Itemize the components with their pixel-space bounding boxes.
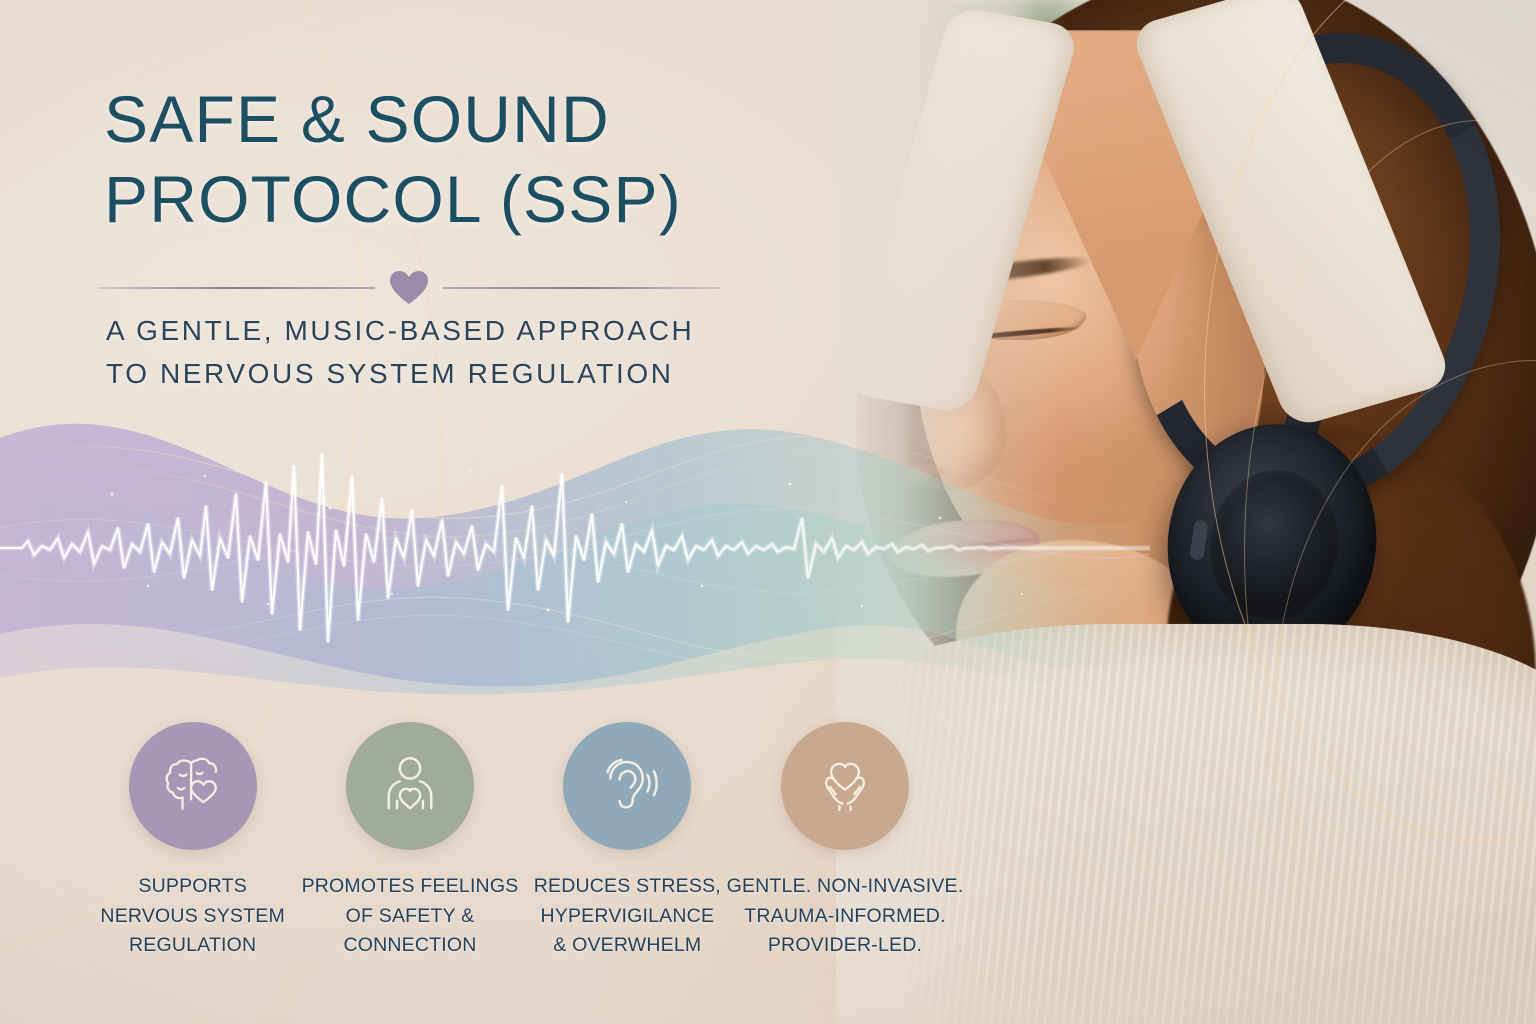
feature-label-line: CONNECTION bbox=[302, 931, 519, 961]
feature-label-line: HYPERVIGILANCE bbox=[534, 902, 721, 932]
feature-item: SUPPORTS NERVOUS SYSTEM REGULATION bbox=[84, 722, 301, 961]
divider-rule-left bbox=[98, 287, 375, 289]
feature-label-line: REGULATION bbox=[100, 931, 284, 961]
divider-rule-right bbox=[443, 287, 720, 289]
feature-list: SUPPORTS NERVOUS SYSTEM REGULATION bbox=[84, 722, 954, 961]
feature-label-line: REDUCES STRESS, bbox=[534, 872, 721, 902]
feature-label-line: PROMOTES FEELINGS bbox=[302, 872, 519, 902]
feature-label: PROMOTES FEELINGS OF SAFETY & CONNECTION bbox=[302, 872, 519, 961]
feature-label-line: NERVOUS SYSTEM bbox=[100, 902, 284, 932]
ear-sound-icon bbox=[590, 749, 664, 823]
hands-heart-icon bbox=[808, 749, 882, 823]
feature-label-line: GENTLE. NON-INVASIVE. bbox=[727, 872, 964, 902]
feature-item: PROMOTES FEELINGS OF SAFETY & CONNECTION bbox=[301, 722, 518, 961]
feature-label: REDUCES STRESS, HYPERVIGILANCE & OVERWHE… bbox=[534, 872, 721, 961]
feature-label-line: SUPPORTS bbox=[100, 872, 284, 902]
subtitle-line-1: A GENTLE, MUSIC-BASED APPROACH bbox=[106, 310, 866, 353]
badge-gentle-noninvasive bbox=[781, 722, 909, 850]
badge-reduces-stress bbox=[563, 722, 691, 850]
page-subtitle: A GENTLE, MUSIC-BASED APPROACH TO NERVOU… bbox=[106, 310, 866, 395]
feature-label-line: OF SAFETY & bbox=[302, 902, 519, 932]
feature-label: SUPPORTS NERVOUS SYSTEM REGULATION bbox=[100, 872, 284, 961]
feature-item: GENTLE. NON-INVASIVE. TRAUMA-INFORMED. P… bbox=[736, 722, 954, 961]
feature-label-line: & OVERWHELM bbox=[534, 931, 721, 961]
feature-label: GENTLE. NON-INVASIVE. TRAUMA-INFORMED. P… bbox=[727, 872, 964, 961]
title-line-2: PROTOCOL (SSP) bbox=[104, 166, 864, 232]
divider bbox=[98, 272, 720, 304]
brain-heart-icon bbox=[155, 748, 231, 824]
heart-icon bbox=[389, 270, 429, 306]
title-line-1: SAFE & SOUND bbox=[104, 86, 864, 152]
person-heart-icon bbox=[373, 749, 447, 823]
feature-label-line: PROVIDER-LED. bbox=[727, 931, 964, 961]
poster-canvas: SAFE & SOUND PROTOCOL (SSP) A GENTLE, MU… bbox=[0, 0, 1536, 1024]
subtitle-line-2: TO NERVOUS SYSTEM REGULATION bbox=[106, 353, 866, 396]
feature-label-line: TRAUMA-INFORMED. bbox=[727, 902, 964, 932]
badge-supports-regulation bbox=[129, 722, 257, 850]
feature-item: REDUCES STRESS, HYPERVIGILANCE & OVERWHE… bbox=[519, 722, 736, 961]
badge-safety-connection bbox=[346, 722, 474, 850]
page-title: SAFE & SOUND PROTOCOL (SSP) bbox=[104, 86, 864, 232]
